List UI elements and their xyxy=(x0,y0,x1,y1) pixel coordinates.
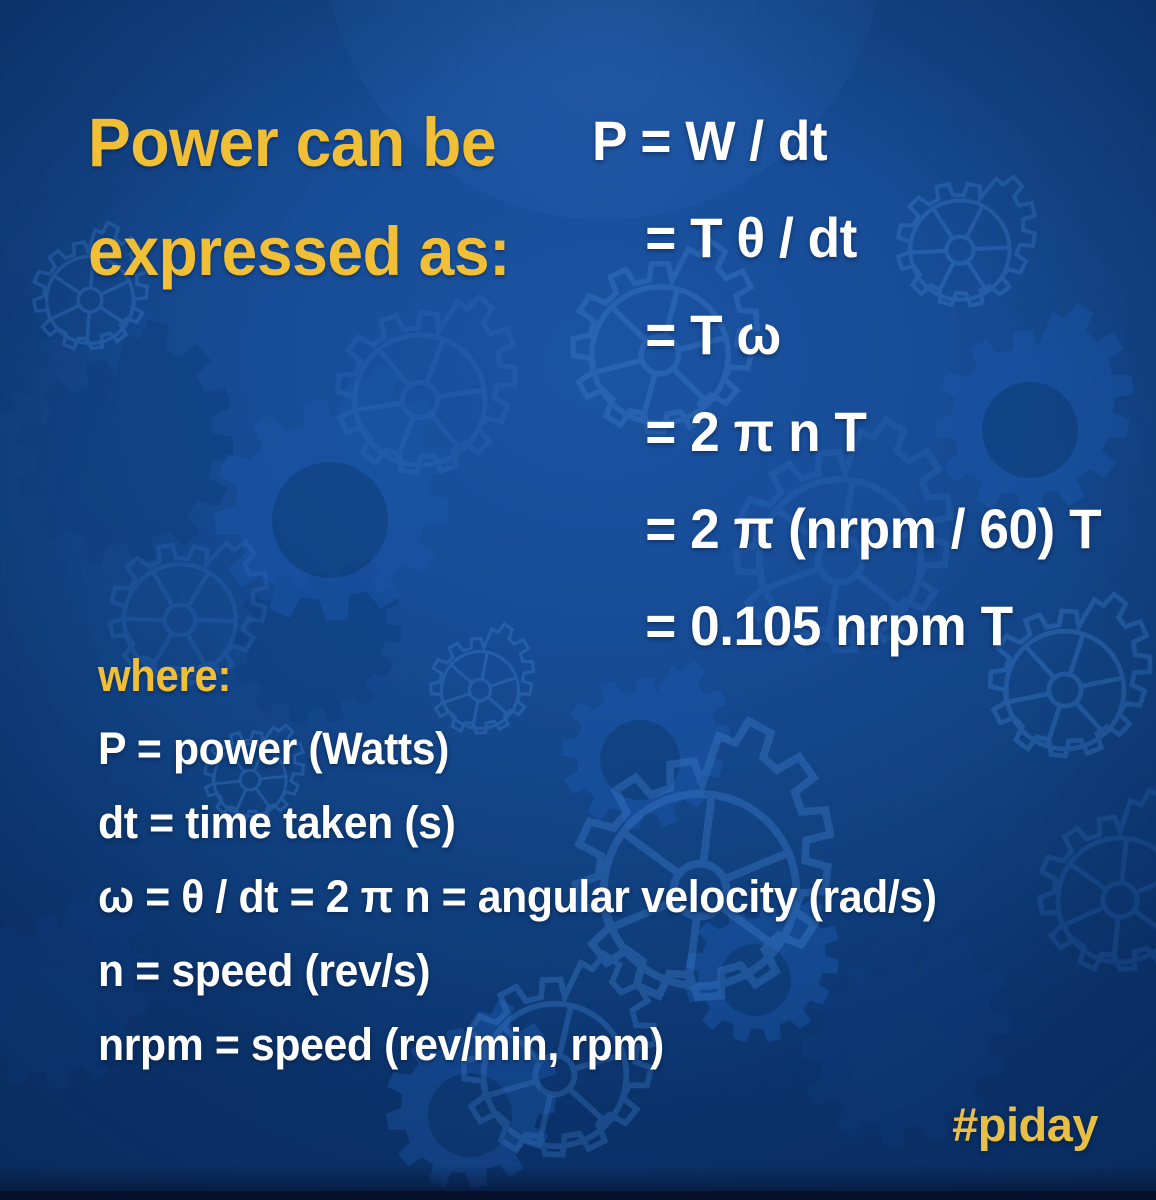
equation-list: P = W / dt = T θ / dt = T ω = 2 π n T = … xyxy=(592,92,1101,674)
equation-line-4: = 2 π n T xyxy=(592,383,1101,480)
headline-line-2: expressed as: xyxy=(88,197,525,306)
equation-line-6: = 0.105 nrpm T xyxy=(592,577,1101,674)
hashtag-piday: #piday xyxy=(952,1097,1098,1152)
definition-time: dt = time taken (s) xyxy=(98,786,937,860)
headline-line-1: Power can be xyxy=(88,88,525,197)
definition-angular-velocity: ω = θ / dt = 2 π n = angular velocity (r… xyxy=(98,860,937,934)
equation-line-5: = 2 π (nrpm / 60) T xyxy=(592,480,1101,577)
where-label: where: xyxy=(98,650,231,702)
definition-speed-rev-per-s: n = speed (rev/s) xyxy=(98,934,937,1008)
bottom-dark-strip xyxy=(0,1191,1156,1200)
power-formula-poster: Power can be expressed as: P = W / dt = … xyxy=(0,0,1156,1200)
definition-list: P = power (Watts) dt = time taken (s) ω … xyxy=(98,712,937,1082)
definition-power: P = power (Watts) xyxy=(98,712,937,786)
equation-line-2: = T θ / dt xyxy=(592,189,1101,286)
poster-content: Power can be expressed as: P = W / dt = … xyxy=(0,0,1156,1200)
equation-line-1: P = W / dt xyxy=(592,92,1101,189)
headline: Power can be expressed as: xyxy=(88,88,525,306)
definition-speed-rpm: nrpm = speed (rev/min, rpm) xyxy=(98,1008,937,1082)
equation-line-3: = T ω xyxy=(592,286,1101,383)
